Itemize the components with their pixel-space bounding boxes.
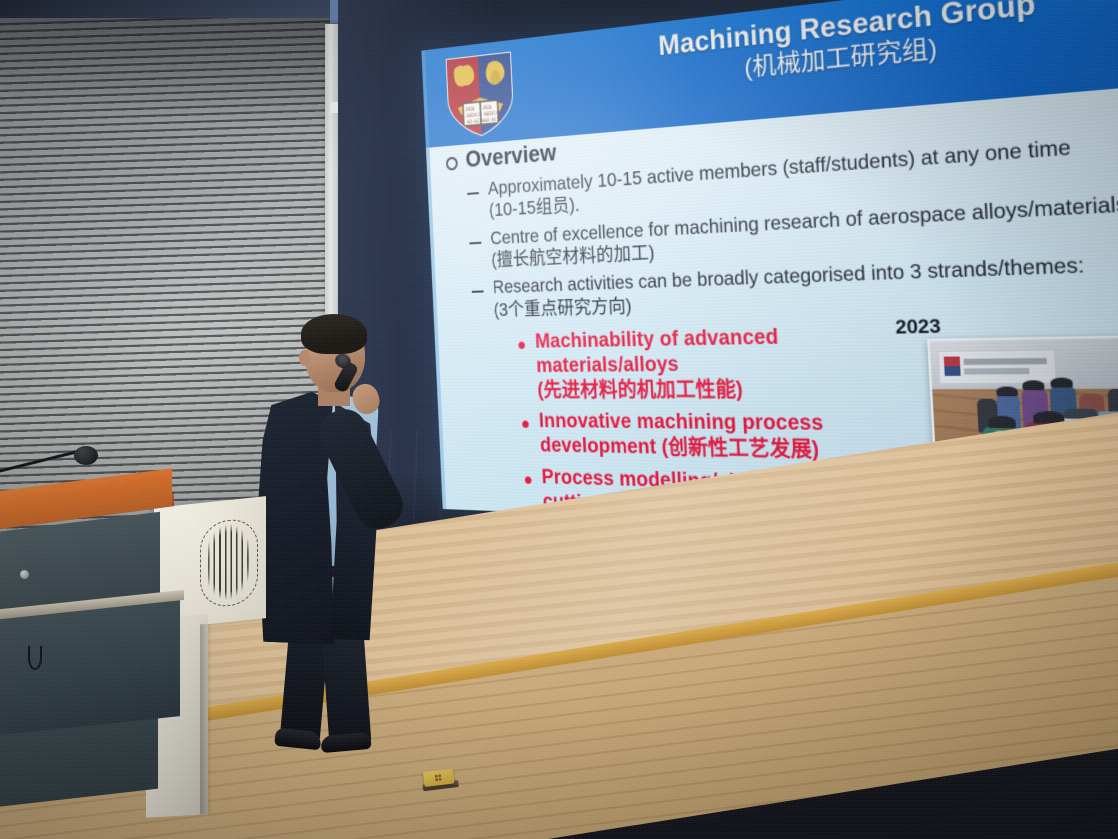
lectern-leg-shadow [200, 624, 212, 815]
svg-text:AD ALTA: AD ALTA [483, 117, 503, 124]
circle-bullet-icon [446, 157, 458, 171]
list-item: Machinability of advanced materials/allo… [518, 324, 865, 404]
microphone-capsule-icon [74, 446, 98, 465]
speaker-grille-icon [204, 521, 252, 602]
left-cabinet [0, 596, 180, 736]
gooseneck-microphone [0, 446, 108, 486]
theme-text: Innovative machining process development… [538, 411, 824, 463]
overview-heading: Overview [465, 139, 557, 173]
presenter-ear [299, 350, 310, 366]
svg-text:PER: PER [483, 106, 492, 112]
svg-text:PER: PER [466, 107, 475, 113]
list-item: Innovative machining process development… [522, 410, 868, 465]
lecture-hall-photo: PERARDUAAD ALTA PERARDUAAD ALTA Machinin… [0, 0, 1118, 839]
dash-bullet-icon [467, 192, 479, 195]
shoe-right [320, 732, 371, 753]
theme-text: Machinability of advanced materials/allo… [535, 326, 779, 378]
university-crest-icon: PERARDUAAD ALTA PERARDUAAD ALTA [443, 48, 518, 140]
dash-bullet-icon [472, 291, 484, 293]
dash-bullet-icon [469, 241, 481, 244]
cabinet-hook-icon [28, 646, 42, 670]
round-bullet-icon [525, 476, 532, 484]
round-bullet-icon [518, 342, 525, 349]
microphone-rod [0, 449, 84, 475]
floor-socket-icon [423, 768, 459, 792]
theme-translation: (先进材料的机加工性能) [537, 377, 864, 404]
presenter-hair [301, 314, 367, 354]
lectern-screw [20, 570, 29, 579]
round-bullet-icon [522, 421, 529, 428]
overview-bullet-list: Approximately 10-15 active members (staf… [467, 127, 1118, 328]
photo-year-label: 2023 [895, 315, 942, 340]
overview-heading-row: Overview [445, 139, 557, 175]
